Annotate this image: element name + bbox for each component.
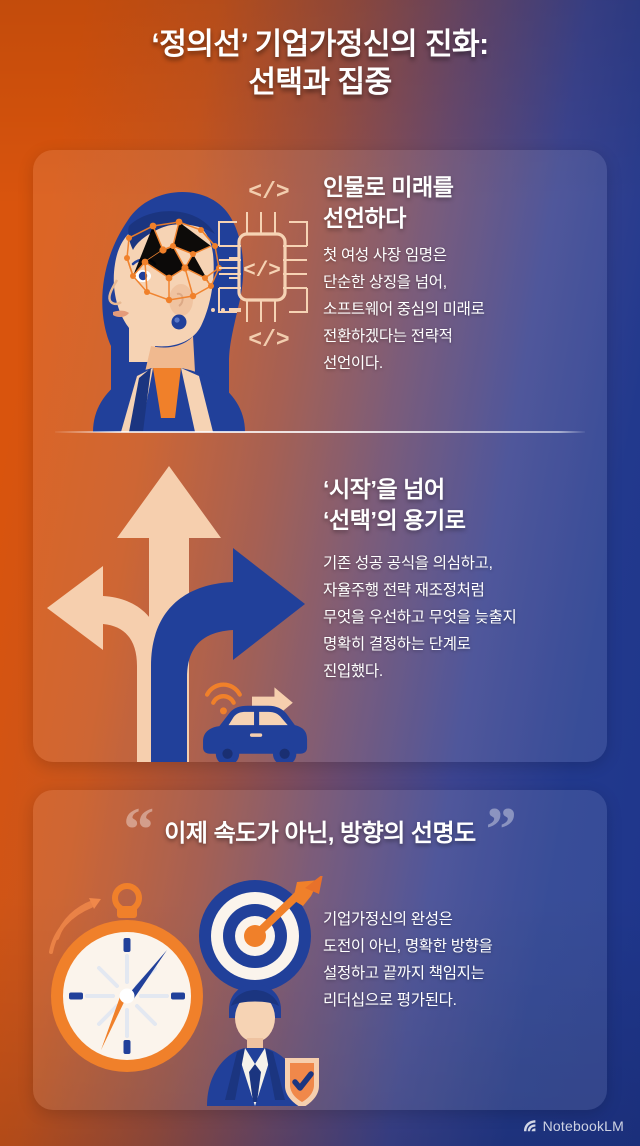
card-1-body-line-4: 전환하겠다는 전략적 xyxy=(323,323,591,350)
panel-top: </> </> </> 인물로 미래를 선언하다 첫 여성 사장 임명은 단순한… xyxy=(33,150,607,762)
card-divider xyxy=(55,431,585,433)
poster-header: ‘정의선’ 기업가정신의 진화: 선택과 집중 xyxy=(0,26,640,102)
quote-open-icon: “ xyxy=(123,808,154,852)
card-1-body-line-1: 첫 여성 사장 임명은 xyxy=(323,242,591,269)
card-1-body-line-3: 소프트웨어 중심의 미래로 xyxy=(323,296,591,323)
watermark: NotebookLM xyxy=(522,1118,624,1134)
card-1-text: 인물로 미래를 선언하다 첫 여성 사장 임명은 단순한 상징을 넘어, 소프트… xyxy=(323,150,607,377)
card-3-body-line-1: 기업가정신의 완성은 xyxy=(323,906,591,933)
page-title: ‘정의선’ 기업가정신의 진화: 선택과 집중 xyxy=(0,26,640,102)
panel-quote: “ 이제 속도가 아닌, 방향의 선명도 ” xyxy=(33,790,607,1110)
illustration-compass-target-person xyxy=(33,876,323,1106)
card-1-body-line-2: 단순한 상징을 넘어, xyxy=(323,269,591,296)
card-2-body-line-4: 명확히 결정하는 단계로 xyxy=(323,631,591,658)
svg-text:</>: </> xyxy=(248,179,289,205)
svg-text:</>: </> xyxy=(248,327,289,353)
notebooklm-logo-icon xyxy=(522,1118,538,1134)
card-3-body-line-4: 리더십으로 평가된다. xyxy=(323,987,591,1014)
watermark-label: NotebookLM xyxy=(543,1118,624,1134)
card-1-heading: 인물로 미래를 선언하다 xyxy=(323,172,591,234)
card-3-text: 기업가정신의 완성은 도전이 아닌, 명확한 방향을 설정하고 끝까지 책임지는… xyxy=(323,876,607,1014)
card-choice-courage: ‘시작’을 넘어 ‘선택’의 용기로 기존 성공 공식을 의심하고, 자율주행 … xyxy=(33,452,607,762)
card-1-heading-line-2: 선언하다 xyxy=(323,203,591,234)
card-2-body-line-5: 진입했다. xyxy=(323,658,591,685)
quote-header: “ 이제 속도가 아닌, 방향의 선명도 ” xyxy=(33,808,607,852)
card-2-heading-line-1: ‘시작’을 넘어 xyxy=(323,474,591,505)
card-1-heading-line-1: 인물로 미래를 xyxy=(323,172,591,203)
page-title-line-2: 선택과 집중 xyxy=(0,64,640,102)
card-1-body: 첫 여성 사장 임명은 단순한 상징을 넘어, 소프트웨어 중심의 미래로 전환… xyxy=(323,242,591,377)
svg-text:</>: </> xyxy=(243,260,281,283)
card-2-text: ‘시작’을 넘어 ‘선택’의 용기로 기존 성공 공식을 의심하고, 자율주행 … xyxy=(323,452,607,685)
illustration-woman-neural-chip: </> </> </> xyxy=(33,150,323,432)
card-2-body-line-1: 기존 성공 공식을 의심하고, xyxy=(323,550,591,577)
card-1-body-line-5: 선언이다. xyxy=(323,350,591,377)
page-title-line-1: ‘정의선’ 기업가정신의 진화: xyxy=(0,26,640,64)
card-3-body-line-2: 도전이 아닌, 명확한 방향을 xyxy=(323,933,591,960)
quote-close-icon: ” xyxy=(486,808,517,852)
card-2-heading-line-2: ‘선택’의 용기로 xyxy=(323,505,591,536)
illustration-arrow-fork-car xyxy=(33,452,323,762)
card-3-body: 기업가정신의 완성은 도전이 아닌, 명확한 방향을 설정하고 끝까지 책임지는… xyxy=(323,906,591,1014)
quote-title: 이제 속도가 아닌, 방향의 선명도 xyxy=(164,813,475,848)
card-2-heading: ‘시작’을 넘어 ‘선택’의 용기로 xyxy=(323,474,591,536)
card-2-body: 기존 성공 공식을 의심하고, 자율주행 전략 재조정처럼 무엇을 우선하고 무… xyxy=(323,550,591,685)
card-3-body-line-3: 설정하고 끝까지 책임지는 xyxy=(323,960,591,987)
card-leadership: 기업가정신의 완성은 도전이 아닌, 명확한 방향을 설정하고 끝까지 책임지는… xyxy=(33,876,607,1106)
card-2-body-line-2: 자율주행 전략 재조정처럼 xyxy=(323,577,591,604)
card-future-declaration: </> </> </> 인물로 미래를 선언하다 첫 여성 사장 임명은 단순한… xyxy=(33,150,607,432)
card-2-body-line-3: 무엇을 우선하고 무엇을 늦출지 xyxy=(323,604,591,631)
